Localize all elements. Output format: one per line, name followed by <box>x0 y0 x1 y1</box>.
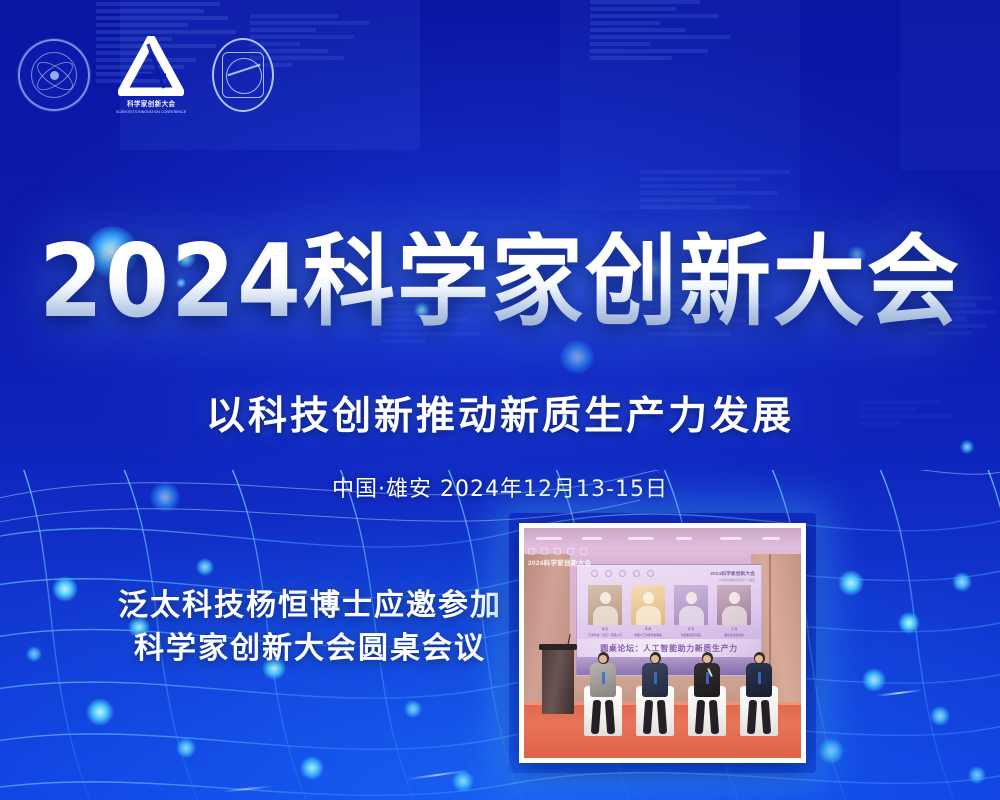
roundtable-panel-photo[interactable]: 2024科学家创新大会 以科技创新推动新质生产力发展 杨 恒 泛太科技（北京）有… <box>519 523 806 763</box>
panelist <box>582 646 624 736</box>
photo-overlay-banner: 2024科学家创新大会 <box>528 548 591 567</box>
academy-seal-logo <box>18 39 90 111</box>
panelist <box>686 646 728 736</box>
screen-brand-title: 2024科学家创新大会 <box>710 571 755 577</box>
circle-icon <box>647 570 654 577</box>
sparkle-glow <box>560 340 594 374</box>
circle-icon <box>619 570 626 577</box>
square-icon <box>541 548 548 555</box>
speaker-name: 杨 恒 <box>588 627 622 631</box>
circle-icon <box>633 570 640 577</box>
speaker-name: 李 明 <box>631 627 665 631</box>
panelist <box>738 646 780 736</box>
speaker-card: 李 明 中国人工智能学会理事 <box>631 585 665 637</box>
square-icon <box>554 548 561 555</box>
speaker-org: 泛太科技（北京）有限公司 <box>588 633 622 637</box>
speaker-name: 张 伟 <box>674 627 708 631</box>
poster-title-wrap: 2024科学家创新大会 <box>0 236 1000 328</box>
triangle-logo-subtext-en: SCIENTISTS INNOVATION CONFERENCE <box>116 110 186 114</box>
podium <box>542 648 574 714</box>
circle-icon <box>605 570 612 577</box>
screen-brand: 2024科学家创新大会 以科技创新推动新质生产力发展 <box>710 571 755 582</box>
caption-line-1: 泛太科技杨恒博士应邀参加 <box>110 585 510 628</box>
event-caption: 泛太科技杨恒博士应邀参加 科学家创新大会圆桌会议 <box>110 585 510 670</box>
panelist <box>634 646 676 736</box>
conference-poster: 科学家创新大会 SCIENTISTS INNOVATION CONFERENCE… <box>0 0 1000 800</box>
organizer-logos: 科学家创新大会 SCIENTISTS INNOVATION CONFERENCE <box>18 36 274 114</box>
circle-icon <box>591 570 598 577</box>
speaker-org: 国家重点实验室 <box>717 633 751 637</box>
page-title: 2024科学家创新大会 <box>39 231 961 332</box>
poster-dateline: 中国·雄安 2024年12月13-15日 <box>0 471 1000 503</box>
panelists-group <box>582 644 782 736</box>
photo-overlay-banner-text: 2024科学家创新大会 <box>528 557 591 567</box>
square-icon <box>528 548 535 555</box>
speaker-org: 中国人工智能学会理事 <box>631 633 665 637</box>
speaker-card: 杨 恒 泛太科技（北京）有限公司 <box>588 585 622 637</box>
speaker-name: 王 强 <box>717 627 751 631</box>
speaker-card: 王 强 国家重点实验室 <box>717 585 751 637</box>
screen-top-icons <box>591 570 654 577</box>
institute-oval-seal-logo <box>212 38 274 112</box>
speaker-cards: 杨 恒 泛太科技（北京）有限公司 李 明 中国人工智能学会理事 张 伟 智能制造… <box>588 585 751 637</box>
triangle-logo-subtext: 科学家创新大会 <box>127 99 175 109</box>
caption-line-2: 科学家创新大会圆桌会议 <box>110 628 510 671</box>
screen-brand-sub: 以科技创新推动新质生产力发展 <box>710 578 755 582</box>
speaker-card: 张 伟 智能制造研究院 <box>674 585 708 637</box>
sparkle-glow <box>960 440 974 454</box>
triangle-a-logo: 科学家创新大会 SCIENTISTS INNOVATION CONFERENCE <box>116 36 186 114</box>
poster-subtitle: 以科技创新推动新质生产力发展 <box>0 385 1000 441</box>
speaker-org: 智能制造研究院 <box>674 633 708 637</box>
square-icon <box>580 548 587 555</box>
square-icon <box>567 548 574 555</box>
